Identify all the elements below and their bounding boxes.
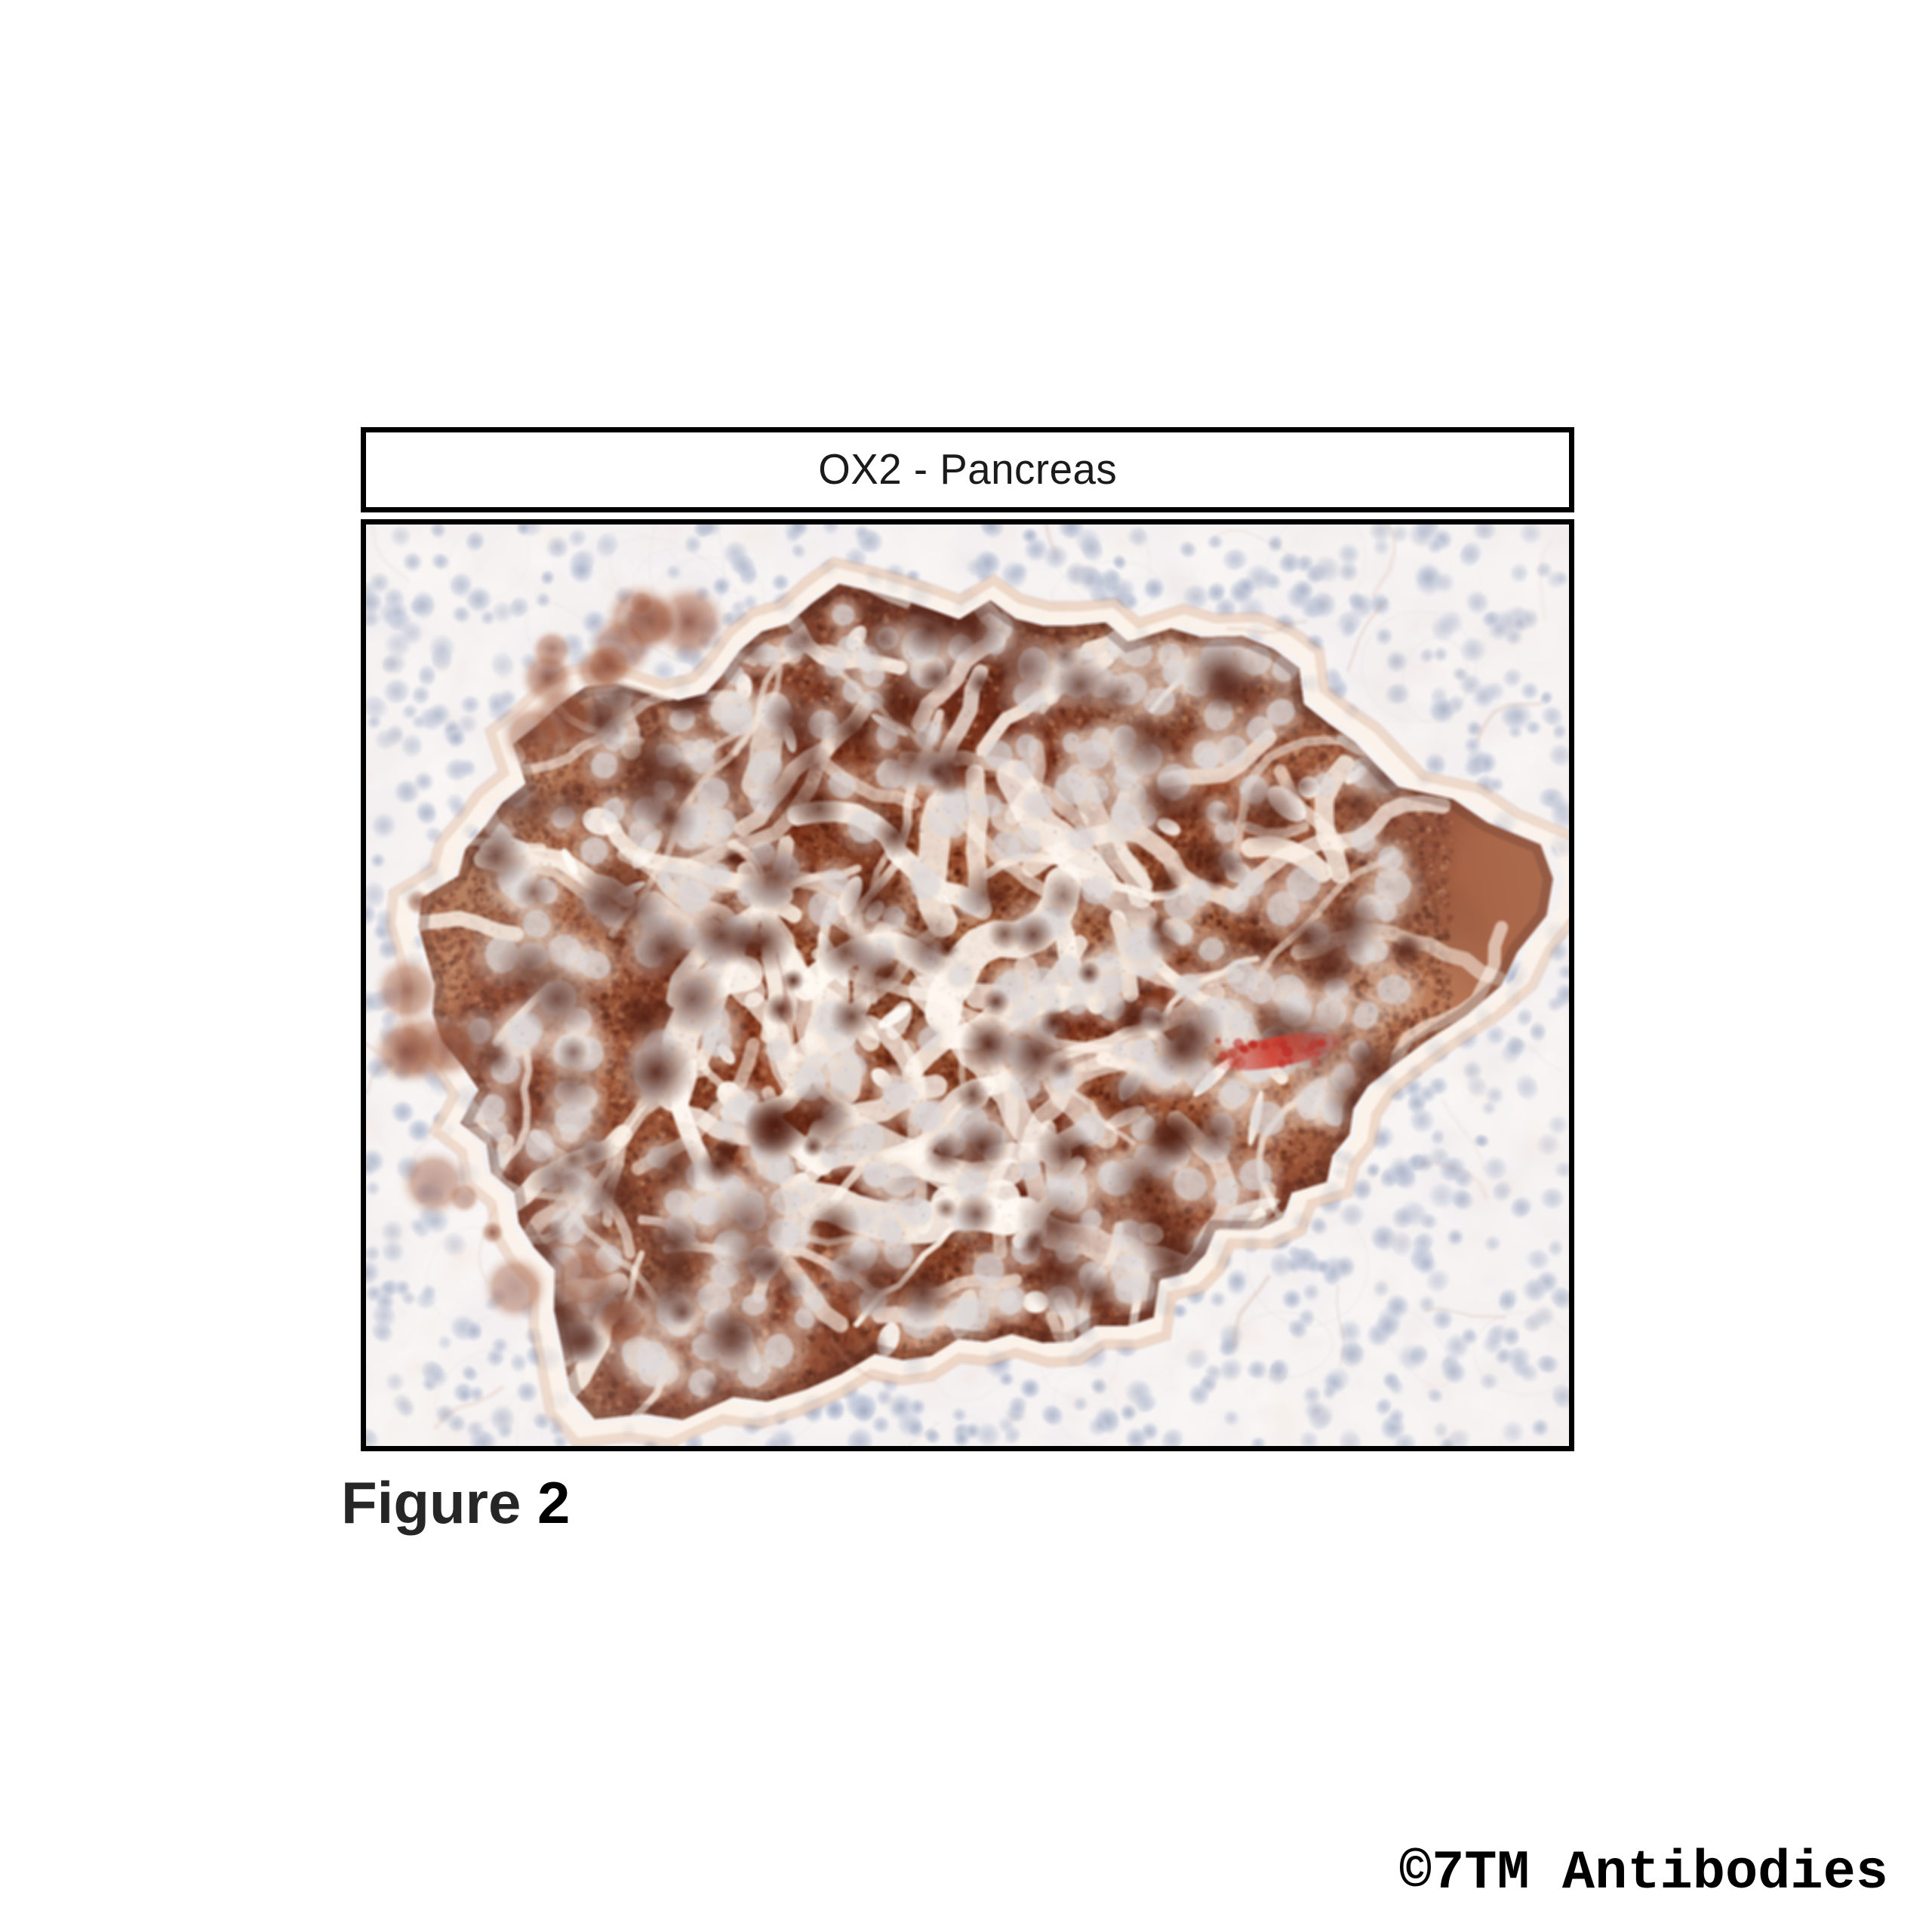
figure-caption-prefix: Figure [341, 1469, 521, 1536]
copyright-notice: ©7TM Antibodies [1399, 1846, 1888, 1900]
panel-title-box: OX2 - Pancreas [361, 427, 1574, 512]
figure-panel: OX2 - Pancreas [361, 427, 1574, 1451]
panel-title-label: OX2 - Pancreas [818, 448, 1117, 491]
figure-caption: Figure 2 [341, 1473, 570, 1532]
figure-caption-number: 2 [537, 1469, 570, 1536]
ihc-micrograph-image [366, 525, 1569, 1446]
micrograph-frame [361, 519, 1574, 1451]
